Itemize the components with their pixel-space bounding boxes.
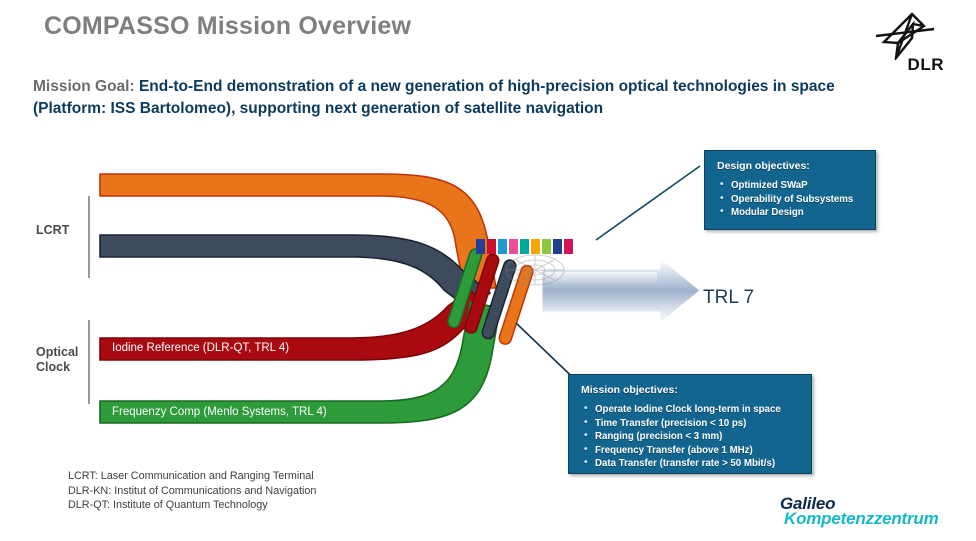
trl-outcome-label: TRL 7 <box>703 287 754 309</box>
callout-list: Operate Iodine Clock long-term in space … <box>581 403 801 471</box>
compasso-letter-block <box>542 239 551 254</box>
leader-line-design <box>596 166 700 240</box>
page-title: COMPASSO Mission Overview <box>44 12 411 41</box>
compasso-letter-block <box>487 239 496 254</box>
callout-list-item: Operability of Subsystems <box>717 193 865 207</box>
mission-goal-paragraph: Mission Goal: End-to-End demonstration o… <box>33 76 841 120</box>
callout-title: Mission objectives: <box>581 384 801 396</box>
callout-mission-objectives: Mission objectives: Operate Iodine Clock… <box>568 374 812 474</box>
callout-list-item: Optimized SWaP <box>717 179 865 193</box>
callout-design-objectives: Design objectives: Optimized SWaP Operab… <box>704 150 876 230</box>
compasso-letter-block <box>520 239 529 254</box>
callout-list-item: Frequency Transfer (above 1 MHz) <box>581 444 801 458</box>
callout-list-item: Time Transfer (precision < 10 ps) <box>581 417 801 431</box>
stream-path-iodine-reference <box>100 290 488 360</box>
mission-goal-lead: Mission Goal: <box>33 78 139 95</box>
stream-path-optical-transceiver <box>100 235 490 310</box>
compasso-letter-block <box>498 239 507 254</box>
compasso-logo <box>476 236 588 290</box>
dlr-logo: DLR <box>872 12 944 74</box>
dlr-mark-icon <box>872 12 944 60</box>
compasso-letter-block <box>553 239 562 254</box>
group-label-optical-clock: Optical Clock <box>36 345 78 375</box>
compasso-letter-block <box>531 239 540 254</box>
callout-list-item: Modular Design <box>717 206 865 220</box>
group-bracket-optical-clock <box>88 320 90 404</box>
compass-rose-icon <box>504 253 566 287</box>
slide: COMPASSO Mission Overview Mission Goal: … <box>0 0 976 541</box>
galileo-kompetenzzentrum-logo: Galileo Kompetenzzentrum <box>780 494 960 534</box>
group-label-lcrt: LCRT <box>36 223 69 238</box>
footnote-line: DLR-KN: Institut of Communications and N… <box>68 484 316 499</box>
footnote-line: LCRT: Laser Communication and Ranging Te… <box>68 469 316 484</box>
callout-list-item: Data Transfer (transfer rate > 50 Mbit/s… <box>581 457 801 471</box>
callout-title: Design objectives: <box>717 160 865 172</box>
callout-list-item: Ranging (precision < 3 mm) <box>581 430 801 444</box>
group-bracket-lcrt <box>88 196 90 278</box>
footnotes: LCRT: Laser Communication and Ranging Te… <box>68 469 316 513</box>
callout-list-item: Operate Iodine Clock long-term in space <box>581 403 801 417</box>
footnote-line: DLR-QT: Institute of Quantum Technology <box>68 498 316 513</box>
mission-goal-text: End-to-End demonstration of a new genera… <box>33 78 835 117</box>
compasso-letter-block <box>564 239 573 254</box>
compasso-letter-block <box>476 239 485 254</box>
galileo-logo-line2: Kompetenzzentrum <box>784 509 939 529</box>
callout-list: Optimized SWaP Operability of Subsystems… <box>717 179 865 220</box>
dlr-wordmark: DLR <box>908 55 944 75</box>
compasso-letter-block <box>509 239 518 254</box>
